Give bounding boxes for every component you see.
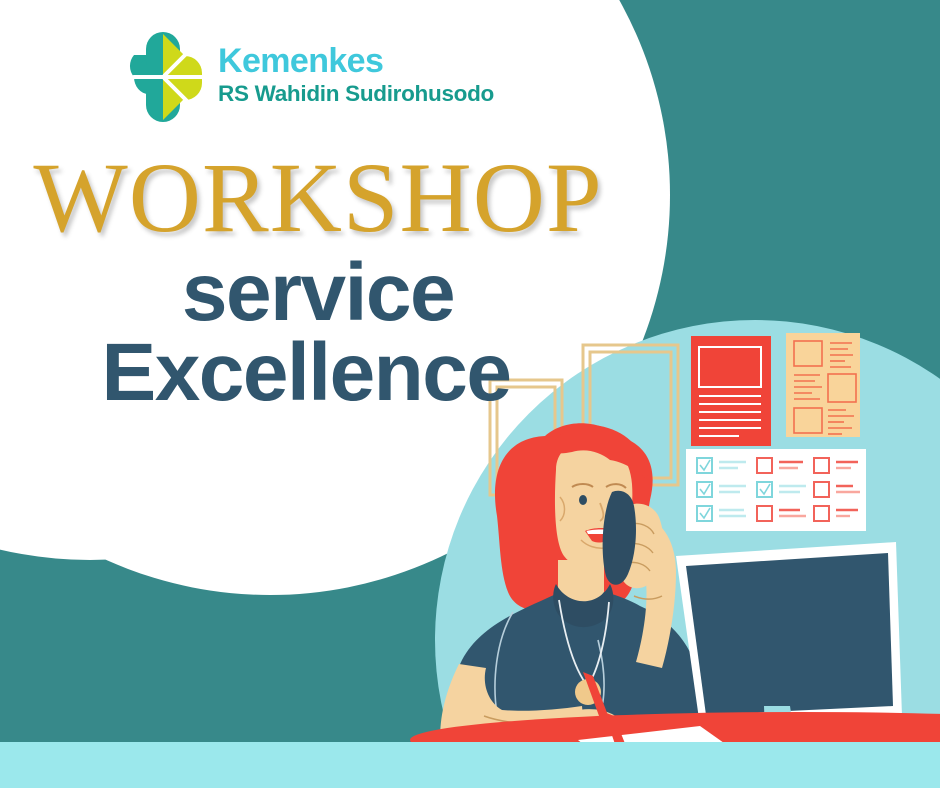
poster-canvas: Kemenkes RS Wahidin Sudirohusodo WORKSHO…	[0, 0, 940, 788]
kemenkes-flower-logo-icon	[112, 26, 214, 128]
headline-workshop: WORKSHOP	[18, 148, 618, 248]
character-eye-left	[579, 495, 587, 505]
checklist-board	[686, 449, 866, 531]
headline-excellence: Excellence	[6, 332, 606, 414]
bottom-accent-band	[0, 742, 940, 788]
logo-title: Kemenkes	[218, 44, 494, 78]
headline-service: service	[18, 252, 618, 334]
logo-subtitle: RS Wahidin Sudirohusodo	[218, 82, 494, 106]
kemenkes-logo: Kemenkes RS Wahidin Sudirohusodo	[112, 26, 512, 132]
peach-poster	[786, 333, 860, 437]
red-poster	[691, 336, 771, 446]
logo-textblock: Kemenkes RS Wahidin Sudirohusodo	[218, 44, 494, 106]
